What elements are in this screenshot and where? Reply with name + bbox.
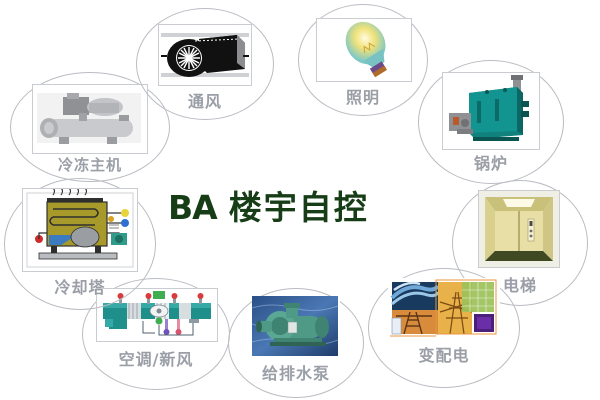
node-label: 空调/新风: [82, 346, 230, 370]
node-ventilation[interactable]: 通风: [136, 8, 274, 120]
ba-building-automation-diagram: 冷冻主机: [0, 0, 600, 400]
node-boiler[interactable]: 锅炉: [418, 60, 564, 184]
light-bulb-icon: [316, 18, 412, 82]
node-lighting[interactable]: 照明: [298, 4, 428, 116]
node-cooling-tower[interactable]: 冷却塔: [4, 178, 156, 310]
node-label: 通风: [136, 88, 274, 112]
node-water-pump[interactable]: 给排水泵: [228, 288, 364, 398]
node-label: 冷却塔: [4, 274, 156, 298]
elevator-cab-icon: [478, 190, 560, 268]
water-pump-icon: [252, 296, 340, 358]
node-label: 变配电: [368, 342, 520, 366]
node-label: 冷冻主机: [10, 154, 170, 175]
title-abbreviation: BA: [168, 188, 217, 227]
title-chinese: 楼宇自控: [229, 188, 369, 227]
node-power-distribution[interactable]: 变配电: [368, 268, 520, 388]
boiler-icon: [442, 72, 540, 150]
node-label: 照明: [298, 84, 428, 108]
power-grid-collage-icon: [388, 278, 500, 340]
ventilation-fan-icon: [158, 24, 252, 86]
page-title: BA楼宇自控: [168, 188, 369, 228]
chiller-photo-icon: [32, 84, 148, 154]
node-label: 给排水泵: [228, 360, 364, 384]
node-label: 锅炉: [418, 150, 564, 174]
cooling-tower-icon: [22, 188, 138, 272]
